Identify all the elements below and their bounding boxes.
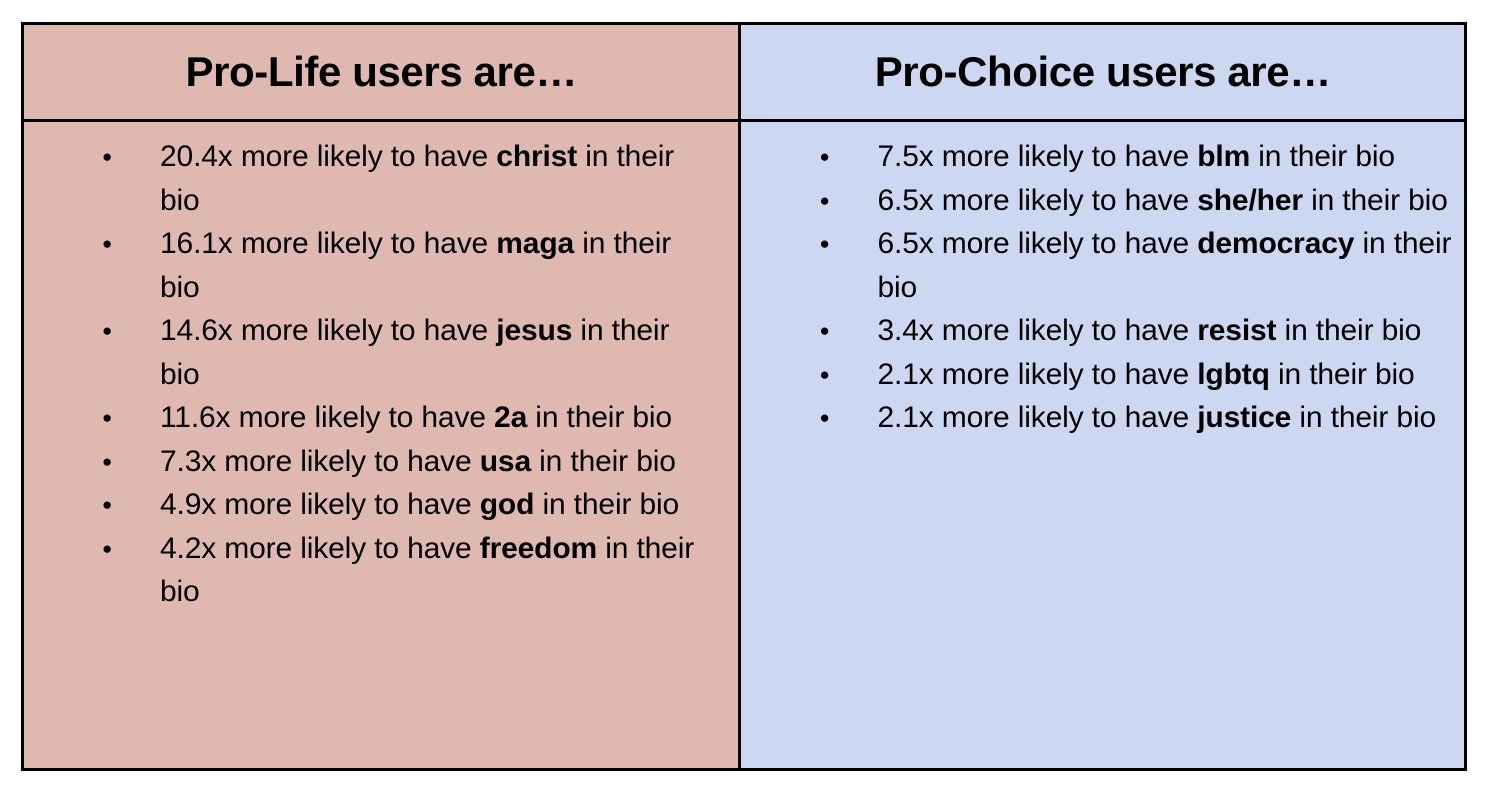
pro-choice-header-title: Pro-Choice users are…: [751, 50, 1454, 94]
list-item: 7.5x more likely to have blm in their bi…: [741, 135, 1464, 179]
list-item-suffix: in their bio: [1276, 314, 1421, 347]
list-item-suffix: in their bio: [1291, 401, 1436, 434]
list-item-prefix: 16.1x more likely to have: [160, 227, 496, 260]
list-item: 4.2x more likely to have freedom in thei…: [24, 527, 738, 614]
list-item: 16.1x more likely to have maga in their …: [24, 222, 738, 309]
list-item: 2.1x more likely to have lgbtq in their …: [741, 353, 1464, 397]
list-item-suffix: in their bio: [531, 445, 676, 478]
column-body-pro-life: 20.4x more likely to have christ in thei…: [23, 121, 740, 770]
list-item-prefix: 11.6x more likely to have: [160, 401, 494, 434]
pro-life-header-title: Pro-Life users are…: [34, 50, 728, 94]
list-item-suffix: in their bio: [534, 488, 679, 521]
list-item-keyword: lgbtq: [1197, 358, 1270, 391]
list-item-suffix: in their bio: [1270, 358, 1415, 391]
list-item-keyword: blm: [1197, 140, 1250, 173]
list-item-keyword: she/her: [1197, 184, 1303, 217]
list-item: 11.6x more likely to have 2a in their bi…: [24, 396, 738, 440]
list-item-prefix: 20.4x more likely to have: [160, 140, 496, 173]
list-item: 2.1x more likely to have justice in thei…: [741, 396, 1464, 440]
list-item-suffix: in their bio: [1250, 140, 1395, 173]
comparison-table: Pro-Life users are… Pro-Choice users are…: [21, 22, 1467, 771]
column-header-pro-choice: Pro-Choice users are…: [740, 24, 1466, 121]
list-item-prefix: 4.9x more likely to have: [160, 488, 480, 521]
list-item-keyword: maga: [496, 227, 574, 260]
list-item: 20.4x more likely to have christ in thei…: [24, 135, 738, 222]
pro-choice-bullet-list: 7.5x more likely to have blm in their bi…: [741, 135, 1464, 440]
list-item-keyword: freedom: [480, 532, 597, 565]
list-item-prefix: 6.5x more likely to have: [877, 227, 1197, 260]
list-item-prefix: 4.2x more likely to have: [160, 532, 480, 565]
pro-life-bullet-list: 20.4x more likely to have christ in thei…: [24, 135, 738, 614]
list-item: 7.3x more likely to have usa in their bi…: [24, 440, 738, 484]
list-item-prefix: 2.1x more likely to have: [877, 401, 1197, 434]
table-header-row: Pro-Life users are… Pro-Choice users are…: [23, 24, 1466, 121]
list-item-prefix: 2.1x more likely to have: [877, 358, 1197, 391]
list-item-prefix: 14.6x more likely to have: [160, 314, 496, 347]
list-item-keyword: democracy: [1197, 227, 1354, 260]
list-item: 4.9x more likely to have god in their bi…: [24, 483, 738, 527]
list-item-keyword: jesus: [496, 314, 572, 347]
list-item-keyword: 2a: [494, 401, 527, 434]
table-body-row: 20.4x more likely to have christ in thei…: [23, 121, 1466, 770]
list-item: 14.6x more likely to have jesus in their…: [24, 309, 738, 396]
list-item-prefix: 7.3x more likely to have: [160, 445, 480, 478]
list-item: 6.5x more likely to have she/her in thei…: [741, 179, 1464, 223]
list-item-keyword: usa: [480, 445, 531, 478]
list-item-prefix: 7.5x more likely to have: [877, 140, 1197, 173]
list-item-prefix: 6.5x more likely to have: [877, 184, 1197, 217]
list-item-suffix: in their bio: [1303, 184, 1448, 217]
list-item: 3.4x more likely to have resist in their…: [741, 309, 1464, 353]
column-body-pro-choice: 7.5x more likely to have blm in their bi…: [740, 121, 1466, 770]
list-item-keyword: christ: [496, 140, 577, 173]
list-item-keyword: justice: [1197, 401, 1291, 434]
column-header-pro-life: Pro-Life users are…: [23, 24, 740, 121]
list-item-prefix: 3.4x more likely to have: [877, 314, 1197, 347]
list-item: 6.5x more likely to have democracy in th…: [741, 222, 1464, 309]
list-item-keyword: resist: [1197, 314, 1276, 347]
screenshot-canvas: Pro-Life users are… Pro-Choice users are…: [0, 0, 1486, 796]
list-item-keyword: god: [480, 488, 535, 521]
list-item-suffix: in their bio: [527, 401, 672, 434]
